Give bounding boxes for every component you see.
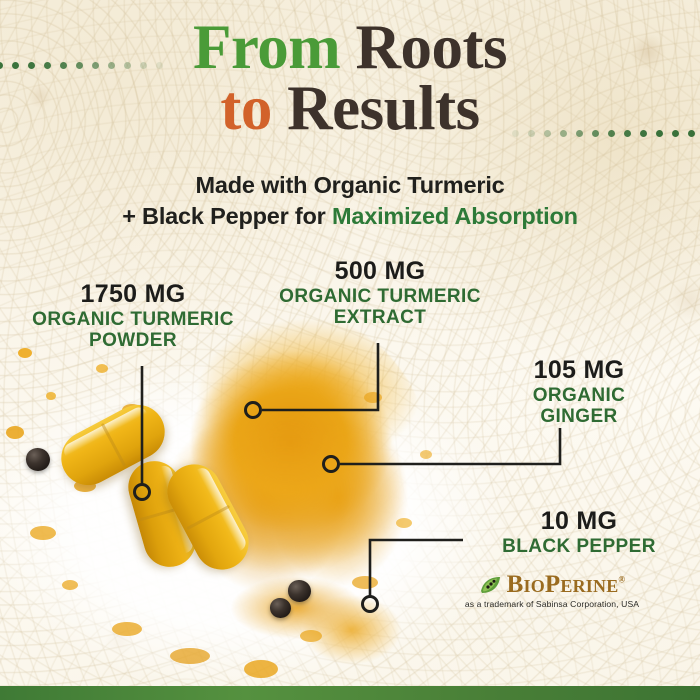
- callout-amount-pepper: 10 MG: [470, 508, 688, 535]
- headline-line-1: From Roots: [193, 12, 507, 82]
- bioperine-wordmark-row: BIOPERINE®: [452, 572, 652, 597]
- turmeric-powder-spill-bottom: [200, 560, 430, 680]
- registered-trademark-icon: ®: [618, 575, 625, 585]
- bioperine-erine: ERINE: [560, 576, 618, 596]
- peppercorn: [26, 448, 50, 471]
- callout-ingredient-extract-line2: EXTRACT: [260, 307, 500, 328]
- powder-speck: [300, 630, 322, 642]
- headline: From Roots to Results: [0, 18, 700, 137]
- powder-speck: [396, 518, 412, 528]
- bioperine-b: B: [507, 571, 524, 598]
- callout-turmeric-powder: 1750 MG ORGANIC TURMERIC POWDER: [18, 281, 248, 352]
- bioperine-io: IO: [524, 576, 545, 596]
- powder-speck: [352, 576, 378, 589]
- bottom-accent-bar: [0, 686, 700, 700]
- callout-ingredient-powder-line2: POWDER: [18, 330, 248, 351]
- callout-organic-ginger: 105 MG ORGANIC GINGER: [470, 357, 688, 428]
- callout-ingredient-ginger-line1: ORGANIC: [470, 385, 688, 406]
- callout-turmeric-extract: 500 MG ORGANIC TURMERIC EXTRACT: [260, 258, 500, 329]
- powder-speck: [420, 450, 432, 459]
- powder-speck: [30, 526, 56, 540]
- product-photo: [0, 330, 520, 700]
- bioperine-logo: BIOPERINE® as a trademark of Sabinsa Cor…: [452, 572, 652, 609]
- callout-ingredient-pepper-line1: BLACK PEPPER: [470, 536, 688, 557]
- subtitle-highlight: Maximized Absorption: [332, 203, 578, 229]
- powder-speck: [364, 392, 382, 403]
- callout-amount-extract: 500 MG: [260, 258, 500, 285]
- powder-speck: [62, 580, 78, 590]
- callout-ingredient-ginger: ORGANIC GINGER: [470, 385, 688, 428]
- peppercorn: [270, 598, 291, 618]
- headline-word-results: Results: [287, 73, 480, 143]
- callout-ingredient-extract: ORGANIC TURMERIC EXTRACT: [260, 286, 500, 329]
- bioperine-p: P: [545, 571, 560, 598]
- callout-black-pepper: 10 MG BLACK PEPPER: [470, 508, 688, 557]
- powder-speck: [244, 660, 278, 678]
- subtitle-line-2-prefix: + Black Pepper for: [122, 203, 332, 229]
- headline-word-roots: Roots: [356, 12, 508, 82]
- headline-word-from: From: [193, 12, 356, 82]
- peppercorn: [288, 580, 311, 602]
- headline-line-2: to Results: [0, 79, 700, 138]
- powder-speck: [112, 622, 142, 636]
- subtitle-line-2: + Black Pepper for Maximized Absorption: [0, 201, 700, 232]
- headline-word-to: to: [220, 73, 287, 143]
- callout-ingredient-pepper: BLACK PEPPER: [470, 536, 688, 557]
- infographic-canvas: From Roots to Results Made with Organic …: [0, 0, 700, 700]
- callout-ingredient-powder: ORGANIC TURMERIC POWDER: [18, 309, 248, 352]
- powder-speck: [46, 392, 56, 400]
- callout-ingredient-extract-line1: ORGANIC TURMERIC: [260, 286, 500, 307]
- callout-ingredient-powder-line1: ORGANIC TURMERIC: [18, 309, 248, 330]
- powder-speck: [96, 364, 108, 373]
- subtitle-line-1: Made with Organic Turmeric: [0, 170, 700, 201]
- bioperine-wordmark: BIOPERINE®: [507, 572, 626, 597]
- powder-speck: [6, 426, 24, 439]
- powder-speck: [170, 648, 210, 664]
- subtitle: Made with Organic Turmeric + Black Peppe…: [0, 170, 700, 232]
- callout-ingredient-ginger-line2: GINGER: [470, 406, 688, 427]
- callout-amount-ginger: 105 MG: [470, 357, 688, 384]
- bioperine-trademark-note: as a trademark of Sabinsa Corporation, U…: [452, 599, 652, 609]
- callout-amount-powder: 1750 MG: [18, 281, 248, 308]
- pea-pod-icon: [479, 575, 503, 595]
